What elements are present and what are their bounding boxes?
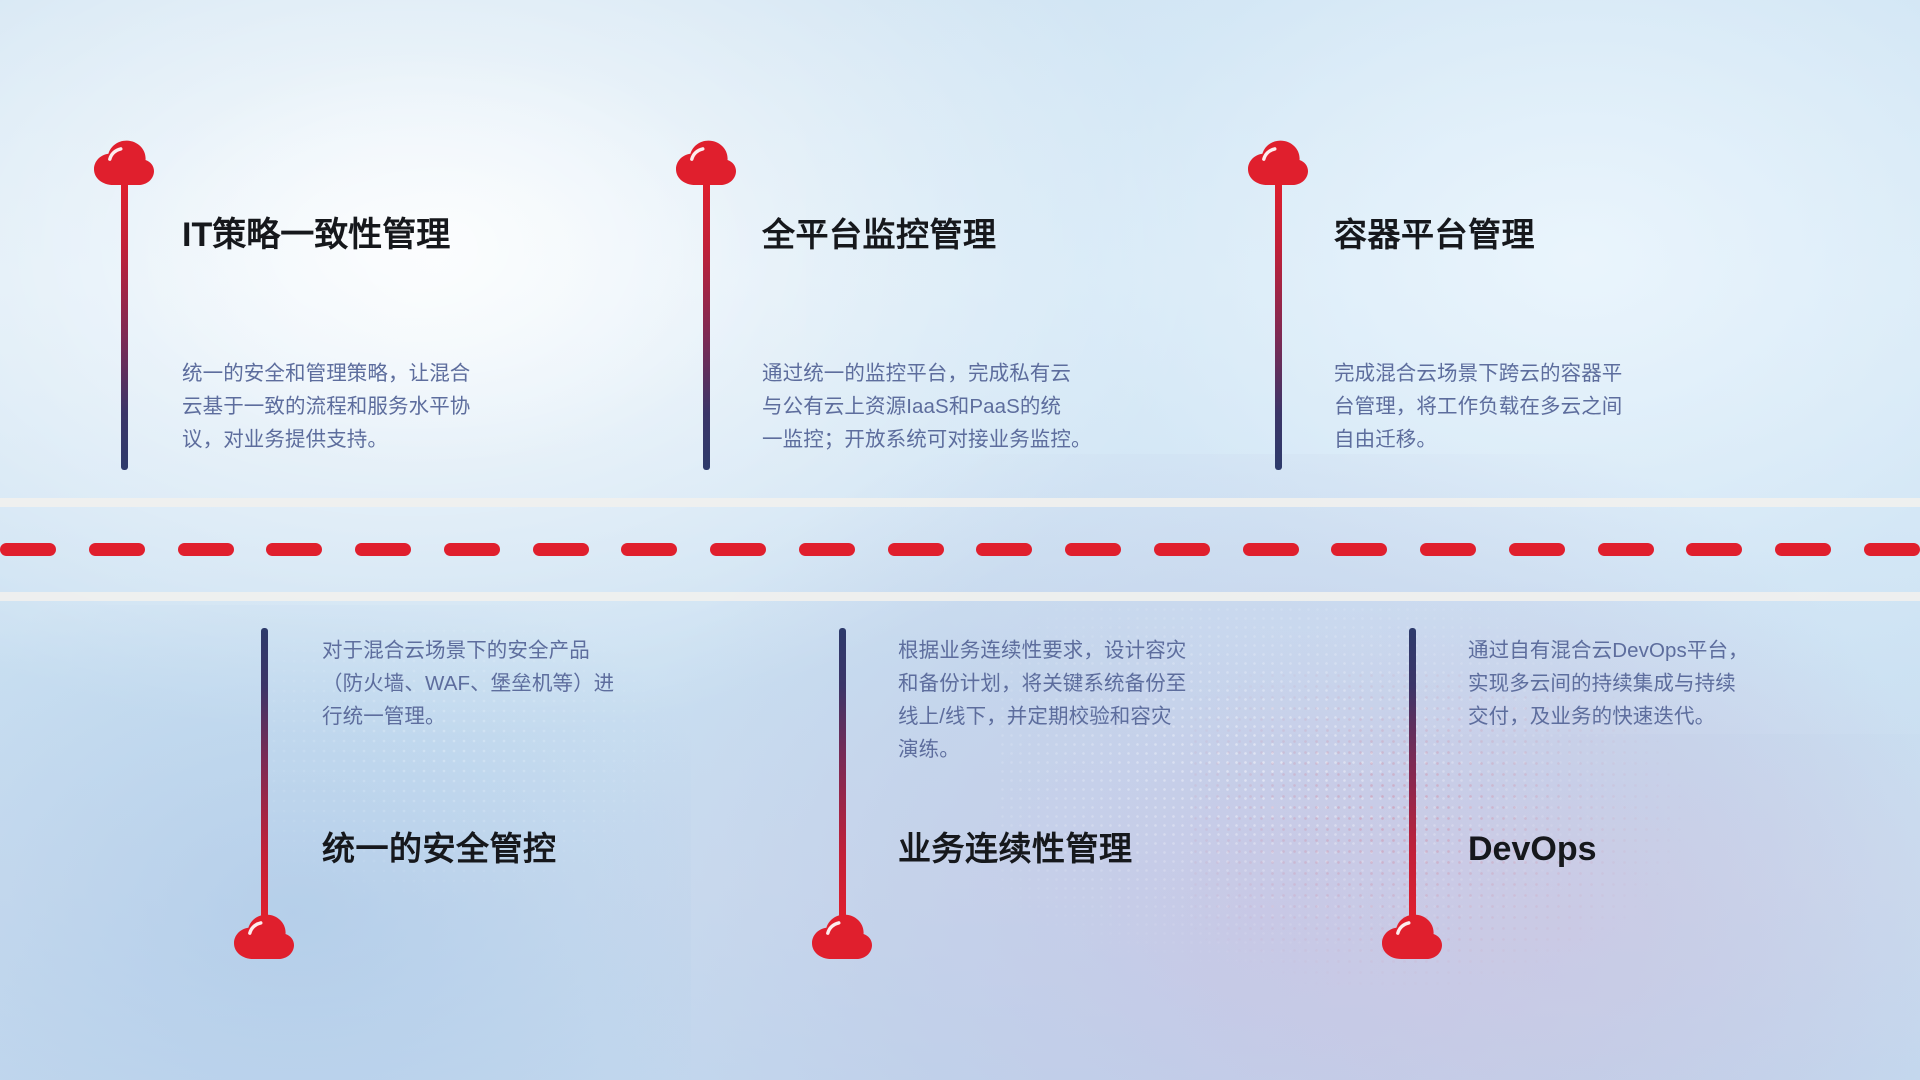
lane-line-top (0, 498, 1920, 507)
card-title: IT策略一致性管理 (182, 218, 450, 252)
cloud-icon (93, 140, 155, 186)
road-dash (1154, 543, 1210, 556)
card-description: 根据业务连续性要求，设计容灾 和备份计划，将关键系统备份至 线上/线下，并定期校… (898, 634, 1228, 766)
road-dash (621, 543, 677, 556)
road-dash (89, 543, 145, 556)
infographic-canvas: IT策略一致性管理统一的安全和管理策略，让混合 云基于一致的流程和服务水平协 议… (0, 0, 1920, 1080)
road-dash (266, 543, 322, 556)
card-title: 业务连续性管理 (898, 832, 1133, 865)
road-dash (1775, 543, 1831, 556)
card-title: 容器平台管理 (1334, 218, 1535, 251)
pin-stem (703, 182, 710, 470)
cloud-icon (1381, 914, 1443, 960)
lane-line-bottom (0, 592, 1920, 601)
cloud-icon (811, 914, 873, 960)
cloud-icon (1247, 140, 1309, 186)
cloud-icon (233, 914, 295, 960)
road-dash (1243, 543, 1299, 556)
card-description: 通过统一的监控平台，完成私有云 与公有云上资源IaaS和PaaS的统 一监控；开… (762, 357, 1092, 456)
card-description: 完成混合云场景下跨云的容器平 台管理，将工作负载在多云之间 自由迁移。 (1334, 357, 1664, 456)
card-description: 统一的安全和管理策略，让混合 云基于一致的流程和服务水平协 议，对业务提供支持。 (182, 357, 512, 456)
road-dash (0, 543, 56, 556)
road-dash (355, 543, 411, 556)
road-dash (1686, 543, 1742, 556)
card-description: 通过自有混合云DevOps平台， 实现多云间的持续集成与持续 交付，及业务的快速… (1468, 634, 1798, 733)
road-dash (533, 543, 589, 556)
road-dashed-centerline (0, 543, 1920, 556)
pin-stem (839, 628, 846, 918)
card-title: DevOps (1468, 832, 1597, 866)
road-dash (710, 543, 766, 556)
pin-stem (1409, 628, 1416, 918)
road-dash (444, 543, 500, 556)
pin-stem (261, 628, 268, 918)
road-dash (1065, 543, 1121, 556)
road-dash (1864, 543, 1920, 556)
road-dash (1420, 543, 1476, 556)
road-dash (1331, 543, 1387, 556)
road-dash (976, 543, 1032, 556)
pin-stem (1275, 182, 1282, 470)
cloud-icon (675, 140, 737, 186)
road-dash (178, 543, 234, 556)
card-title: 全平台监控管理 (762, 218, 997, 251)
road-dash (1598, 543, 1654, 556)
card-description: 对于混合云场景下的安全产品 （防火墙、WAF、堡垒机等）进 行统一管理。 (322, 634, 652, 733)
card-title: 统一的安全管控 (322, 832, 557, 865)
pin-stem (121, 182, 128, 470)
road-dash (1509, 543, 1565, 556)
road-dash (799, 543, 855, 556)
road-dash (888, 543, 944, 556)
